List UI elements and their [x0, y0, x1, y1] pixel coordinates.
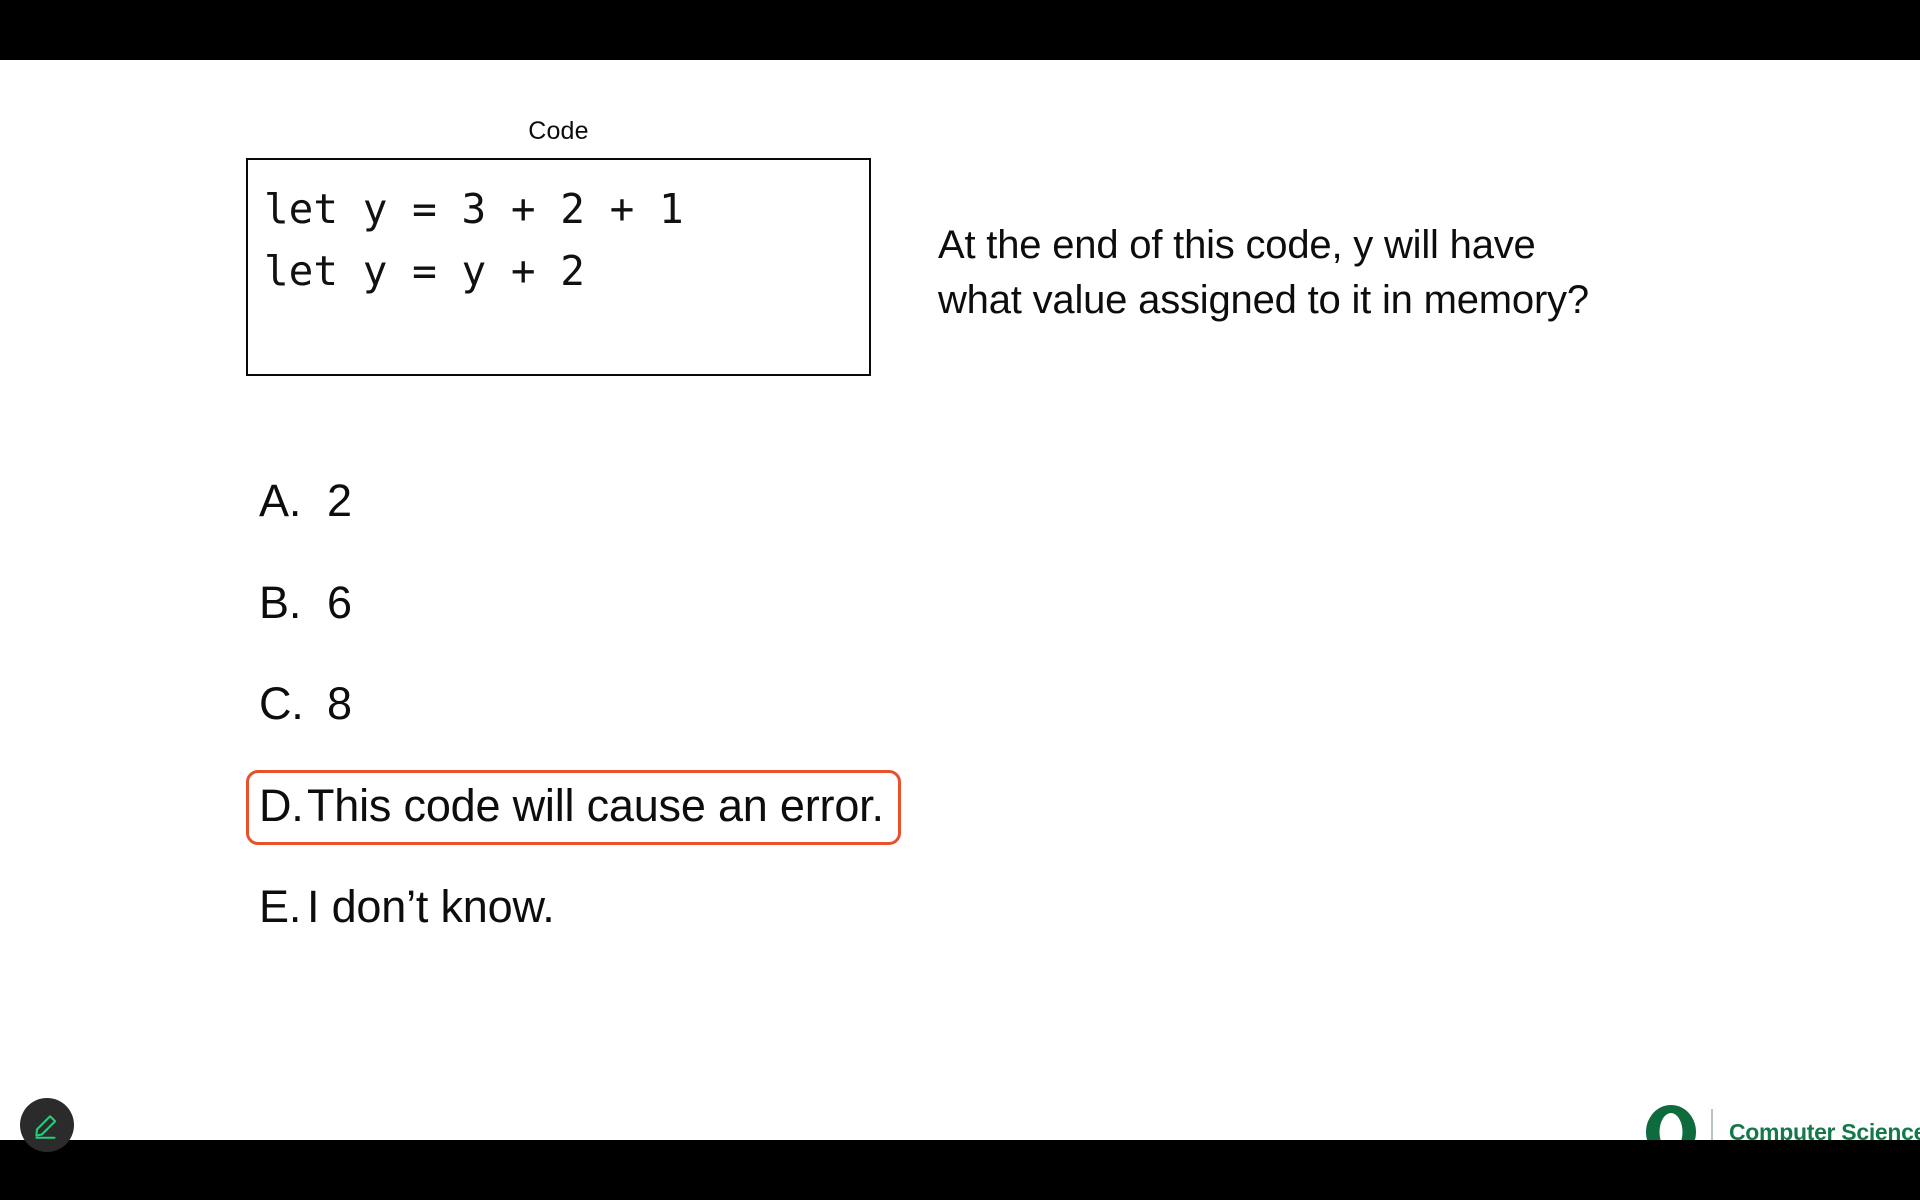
option-d-letter: D.	[259, 781, 307, 831]
slide-root: Code let y = 3 + 2 + 1 let y = y + 2 At …	[0, 0, 1920, 1200]
option-e[interactable]: E. I don’t know.	[246, 871, 568, 947]
code-line-1: let y = 3 + 2 + 1	[264, 178, 853, 240]
code-line-2: let y = y + 2	[264, 240, 853, 302]
code-figure: Code let y = 3 + 2 + 1 let y = y + 2	[246, 116, 871, 376]
option-c[interactable]: C. 8	[246, 668, 365, 744]
code-caption: Code	[246, 116, 871, 146]
option-b-letter: B.	[259, 578, 327, 628]
option-a-letter: A.	[259, 476, 327, 526]
option-d-value: This code will cause an error.	[307, 781, 884, 831]
pen-tool-button[interactable]	[20, 1098, 74, 1152]
option-b-value: 6	[327, 578, 352, 628]
slide-canvas: Code let y = 3 + 2 + 1 let y = y + 2 At …	[0, 60, 1920, 1140]
option-a[interactable]: A. 2	[246, 465, 365, 541]
question-prompt: At the end of this code, y will have wha…	[938, 218, 1598, 328]
option-d[interactable]: D. This code will cause an error.	[246, 770, 901, 846]
letterbox-bottom-bar	[0, 1140, 1920, 1200]
option-c-letter: C.	[259, 679, 327, 729]
option-c-value: 8	[327, 679, 352, 729]
code-box: let y = 3 + 2 + 1 let y = y + 2	[246, 158, 871, 376]
option-e-letter: E.	[259, 882, 307, 932]
pen-edit-icon	[32, 1110, 62, 1140]
option-a-value: 2	[327, 476, 352, 526]
options-list: A. 2 B. 6 C. 8 D. This code will cause a…	[246, 465, 1146, 973]
letterbox-top-bar	[0, 0, 1920, 60]
option-e-value: I don’t know.	[307, 882, 555, 932]
option-b[interactable]: B. 6	[246, 567, 365, 643]
